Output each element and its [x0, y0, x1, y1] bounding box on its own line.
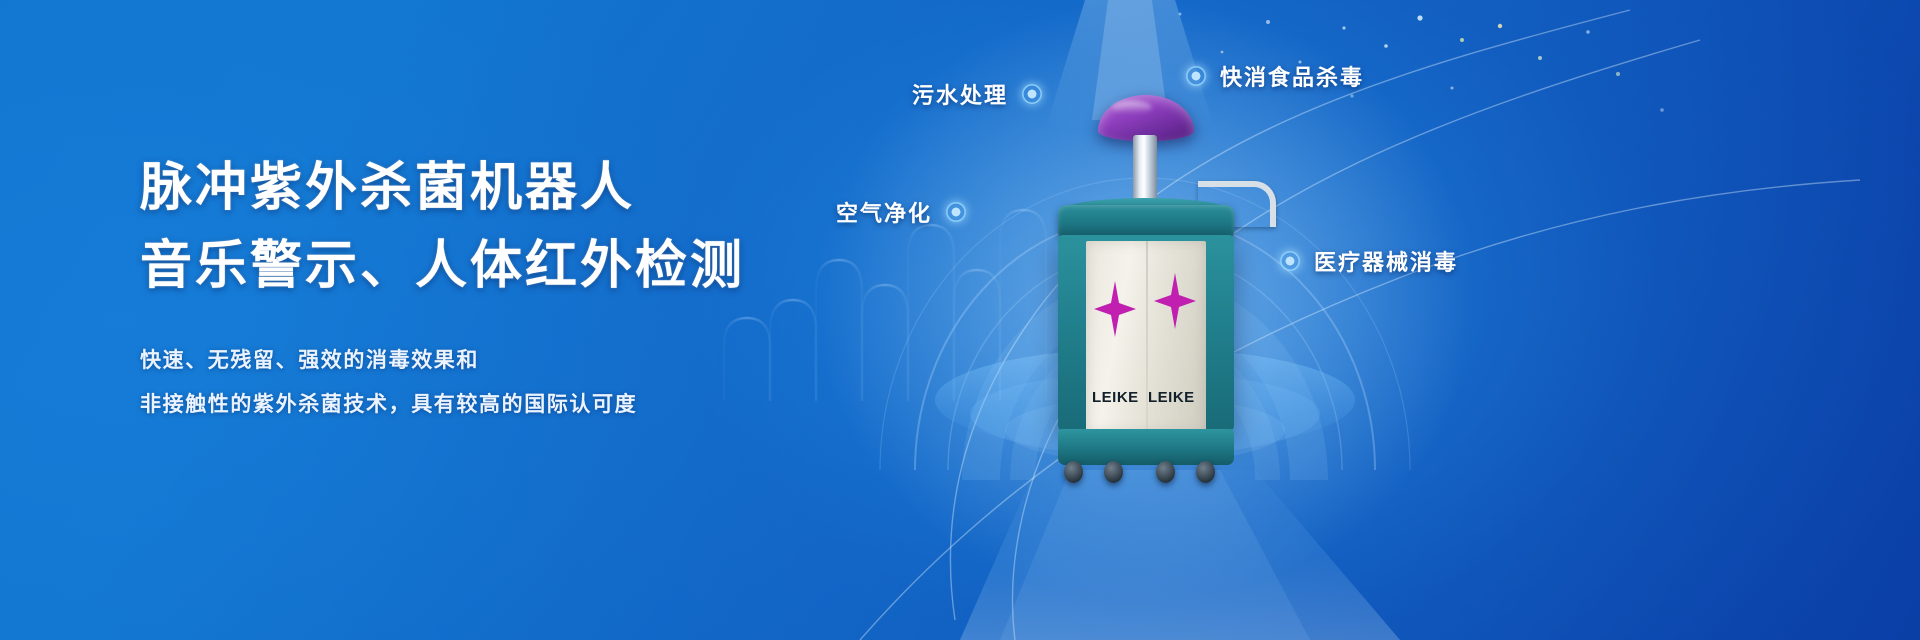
description-line-2: 非接触性的紫外杀菌技术，具有较高的国际认可度: [140, 382, 900, 426]
feature-text: 快消食品杀毒: [1220, 60, 1364, 92]
node-dot-icon: [946, 202, 966, 222]
hero-description: 快速、无残留、强效的消毒效果和 非接触性的紫外杀菌技术，具有较高的国际认可度: [140, 338, 900, 426]
feature-label-waste-water: 污水处理: [912, 78, 1042, 110]
node-dot-icon: [1280, 251, 1300, 271]
description-line-1: 快速、无残留、强效的消毒效果和: [140, 338, 900, 382]
page-title: 脉冲紫外杀菌机器人: [140, 152, 900, 226]
product-shoulder: [1058, 205, 1234, 237]
sparkle-star-icon: [1094, 281, 1136, 337]
feature-text: 医疗器械消毒: [1314, 245, 1458, 277]
node-dot-icon: [1186, 66, 1206, 86]
product-brand-left: LEIKE: [1092, 389, 1139, 406]
product-wheel: [1064, 461, 1083, 483]
product-wheel: [1196, 461, 1215, 483]
product-image-uv-robot: LEIKE LEIKE: [1030, 95, 1260, 495]
feature-label-medical-device-disinfection: 医疗器械消毒: [1280, 245, 1458, 277]
product-base: [1058, 429, 1234, 465]
feature-label-food-sterilization: 快消食品杀毒: [1186, 60, 1364, 92]
feature-text: 污水处理: [912, 78, 1008, 110]
hero-banner: 脉冲紫外杀菌机器人 音乐警示、人体红外检测 快速、无残留、强效的消毒效果和 非接…: [0, 0, 1920, 640]
product-front-panel: LEIKE LEIKE: [1086, 241, 1206, 433]
feature-label-air-purification: 空气净化: [836, 196, 966, 228]
page-subtitle-headline: 音乐警示、人体红外检测: [140, 230, 900, 304]
sparkle-star-icon: [1154, 273, 1196, 329]
feature-text: 空气净化: [836, 196, 932, 228]
product-wheel: [1156, 461, 1175, 483]
hero-copy: 脉冲紫外杀菌机器人 音乐警示、人体红外检测 快速、无残留、强效的消毒效果和 非接…: [140, 152, 900, 426]
product-brand-right: LEIKE: [1148, 389, 1195, 406]
product-wheel: [1104, 461, 1123, 483]
